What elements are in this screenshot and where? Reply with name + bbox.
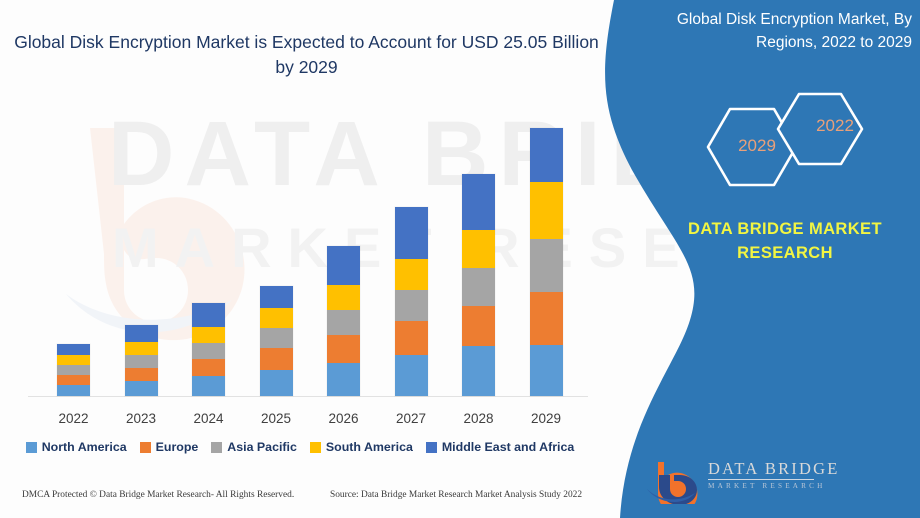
bar-segment-north-america[interactable] xyxy=(260,370,293,396)
x-axis-label-2024: 2024 xyxy=(176,411,242,426)
x-axis-label-2022: 2022 xyxy=(41,411,107,426)
bar-segment-south-america[interactable] xyxy=(125,342,158,355)
bar-segment-middle-east-and-africa[interactable] xyxy=(125,325,158,342)
hexagon-badges: 2029 2022 xyxy=(700,92,890,202)
hexagon-label-2022: 2022 xyxy=(740,116,920,136)
bar-segment-south-america[interactable] xyxy=(462,230,495,268)
panel-heading-line1: Global Disk Encryption Market, By xyxy=(640,8,912,31)
bar-segment-north-america[interactable] xyxy=(125,381,158,396)
legend-item-north-america[interactable]: North America xyxy=(26,440,127,454)
bar-segment-south-america[interactable] xyxy=(192,327,225,343)
bar-chart: 20222023202420252026202720282029 xyxy=(0,0,620,400)
hexagon-shapes-icon xyxy=(700,92,890,202)
legend-label: Middle East and Africa xyxy=(442,440,574,454)
hexagon-front-shape xyxy=(778,94,862,164)
bar-2027[interactable] xyxy=(395,207,428,396)
legend-swatch-icon xyxy=(426,442,437,453)
bar-segment-south-america[interactable] xyxy=(395,259,428,290)
legend-item-asia-pacific[interactable]: Asia Pacific xyxy=(211,440,297,454)
bar-2023[interactable] xyxy=(125,325,158,396)
bar-segment-south-america[interactable] xyxy=(260,308,293,328)
legend-label: South America xyxy=(326,440,413,454)
brand-name: DATA BRIDGE MARKET RESEARCH xyxy=(660,218,910,266)
bar-segment-asia-pacific[interactable] xyxy=(462,268,495,306)
bar-segment-middle-east-and-africa[interactable] xyxy=(260,286,293,308)
x-axis-label-2025: 2025 xyxy=(243,411,309,426)
bar-segment-asia-pacific[interactable] xyxy=(395,290,428,321)
axis-baseline xyxy=(28,396,588,397)
bar-2026[interactable] xyxy=(327,246,360,396)
bar-segment-south-america[interactable] xyxy=(530,182,563,239)
bar-segment-north-america[interactable] xyxy=(530,345,563,396)
bar-2025[interactable] xyxy=(260,286,293,396)
legend-swatch-icon xyxy=(310,442,321,453)
footer-source: Source: Data Bridge Market Research Mark… xyxy=(330,490,582,500)
bar-segment-north-america[interactable] xyxy=(57,385,90,396)
bar-segment-europe[interactable] xyxy=(125,368,158,381)
bar-segment-north-america[interactable] xyxy=(192,376,225,396)
bar-segment-europe[interactable] xyxy=(192,359,225,376)
bar-segment-asia-pacific[interactable] xyxy=(192,343,225,359)
bar-segment-middle-east-and-africa[interactable] xyxy=(395,207,428,259)
brand-line2: RESEARCH xyxy=(660,242,910,266)
hexagon-back-shape xyxy=(708,109,796,185)
x-axis-label-2027: 2027 xyxy=(378,411,444,426)
logo-wordmark: DATA BRIDGE MARKET RESEARCH xyxy=(708,460,840,490)
legend-swatch-icon xyxy=(211,442,222,453)
bar-segment-europe[interactable] xyxy=(395,321,428,355)
logo-title: DATA BRIDGE xyxy=(708,460,840,478)
bar-segment-europe[interactable] xyxy=(327,335,360,363)
chart-legend: North AmericaEuropeAsia PacificSouth Ame… xyxy=(0,440,600,454)
legend-label: Europe xyxy=(156,440,199,454)
bar-segment-middle-east-and-africa[interactable] xyxy=(192,303,225,327)
hexagon-label-2029: 2029 xyxy=(662,136,852,156)
x-axis-label-2026: 2026 xyxy=(311,411,377,426)
bar-2022[interactable] xyxy=(57,344,90,396)
bar-2029[interactable] xyxy=(530,128,563,396)
data-bridge-logo-icon xyxy=(645,458,701,504)
bar-segment-south-america[interactable] xyxy=(57,355,90,365)
bar-segment-north-america[interactable] xyxy=(327,363,360,396)
bar-segment-middle-east-and-africa[interactable] xyxy=(327,246,360,285)
bar-segment-north-america[interactable] xyxy=(395,355,428,396)
infographic-root: DATA BRIDGE MARKET RESEARCH Global Disk … xyxy=(0,0,920,518)
bar-2024[interactable] xyxy=(192,303,225,396)
x-axis-label-2029: 2029 xyxy=(513,411,579,426)
bar-2028[interactable] xyxy=(462,174,495,396)
bar-segment-asia-pacific[interactable] xyxy=(530,239,563,292)
legend-item-south-america[interactable]: South America xyxy=(310,440,413,454)
brand-line1: DATA BRIDGE MARKET xyxy=(660,218,910,242)
bar-segment-middle-east-and-africa[interactable] xyxy=(530,128,563,182)
logo-divider xyxy=(708,479,814,480)
panel-heading: Global Disk Encryption Market, By Region… xyxy=(640,8,912,55)
logo-subtitle: MARKET RESEARCH xyxy=(708,482,840,490)
footer: DMCA Protected © Data Bridge Market Rese… xyxy=(0,487,615,511)
bar-segment-south-america[interactable] xyxy=(327,285,360,310)
legend-label: North America xyxy=(42,440,127,454)
bar-segment-middle-east-and-africa[interactable] xyxy=(57,344,90,355)
bar-segment-asia-pacific[interactable] xyxy=(125,355,158,368)
legend-label: Asia Pacific xyxy=(227,440,297,454)
legend-swatch-icon xyxy=(140,442,151,453)
bar-segment-middle-east-and-africa[interactable] xyxy=(462,174,495,230)
bar-segment-europe[interactable] xyxy=(530,292,563,345)
x-axis-label-2028: 2028 xyxy=(446,411,512,426)
bar-segment-asia-pacific[interactable] xyxy=(57,365,90,375)
bar-segment-europe[interactable] xyxy=(462,306,495,346)
x-axis-label-2023: 2023 xyxy=(108,411,174,426)
bar-segment-europe[interactable] xyxy=(57,375,90,385)
legend-swatch-icon xyxy=(26,442,37,453)
panel-heading-line2: Regions, 2022 to 2029 xyxy=(640,31,912,54)
bar-segment-asia-pacific[interactable] xyxy=(327,310,360,335)
company-logo: DATA BRIDGE MARKET RESEARCH xyxy=(645,458,895,506)
legend-item-europe[interactable]: Europe xyxy=(140,440,199,454)
footer-copyright: DMCA Protected © Data Bridge Market Rese… xyxy=(22,490,294,500)
bar-segment-north-america[interactable] xyxy=(462,346,495,396)
bar-segment-asia-pacific[interactable] xyxy=(260,328,293,348)
legend-item-middle-east-and-africa[interactable]: Middle East and Africa xyxy=(426,440,574,454)
bar-segment-europe[interactable] xyxy=(260,348,293,370)
